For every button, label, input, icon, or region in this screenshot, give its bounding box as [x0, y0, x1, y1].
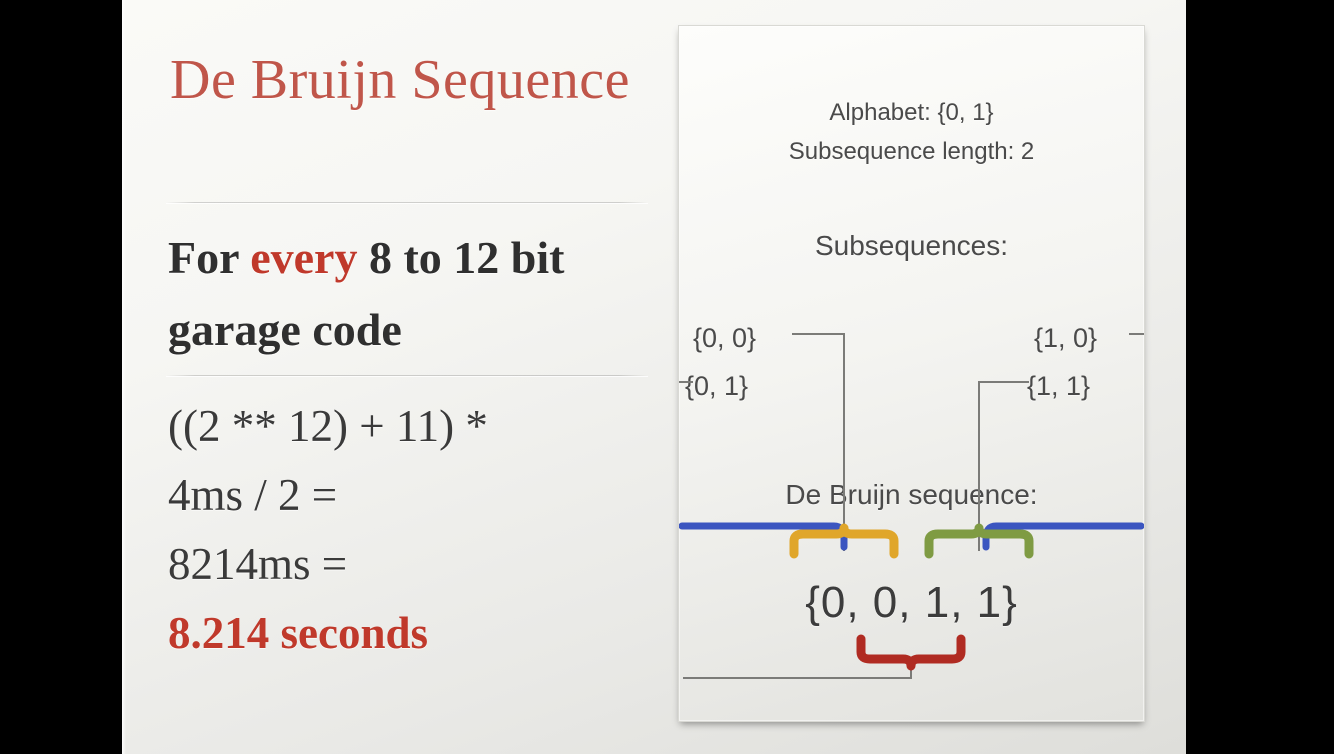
calc-line-2: 4ms / 2 = — [168, 461, 668, 530]
headline-before: For — [168, 232, 250, 283]
headline-highlight: every — [250, 232, 357, 283]
brace-red-01 — [861, 639, 961, 666]
calc-line-3: 8214ms = — [168, 530, 668, 599]
calc-line-1: ((2 ** 12) + 11) * — [168, 392, 668, 461]
headline-text: For every 8 to 12 bit garage code — [168, 222, 668, 366]
video-frame: De Bruijn Sequence For every 8 to 12 bit… — [0, 0, 1334, 754]
wire-from-00 — [792, 334, 844, 551]
diagram-connectors — [679, 26, 1144, 721]
letterbox-left-bar — [0, 0, 122, 754]
presentation-slide: De Bruijn Sequence For every 8 to 12 bit… — [122, 0, 1186, 754]
calc-result: 8.214 seconds — [168, 599, 668, 668]
slide-left-column: De Bruijn Sequence For every 8 to 12 bit… — [166, 0, 686, 754]
calculation-block: ((2 ** 12) + 11) * 4ms / 2 = 8214ms = 8.… — [168, 392, 668, 667]
letterbox-right-bar — [1186, 0, 1334, 754]
page-title: De Bruijn Sequence — [170, 48, 630, 112]
divider-bottom — [166, 375, 648, 376]
divider-top — [166, 202, 648, 203]
wire-red-wraparound — [683, 663, 911, 678]
de-bruijn-diagram-card: Alphabet: {0, 1} Subsequence length: 2 S… — [678, 25, 1145, 722]
